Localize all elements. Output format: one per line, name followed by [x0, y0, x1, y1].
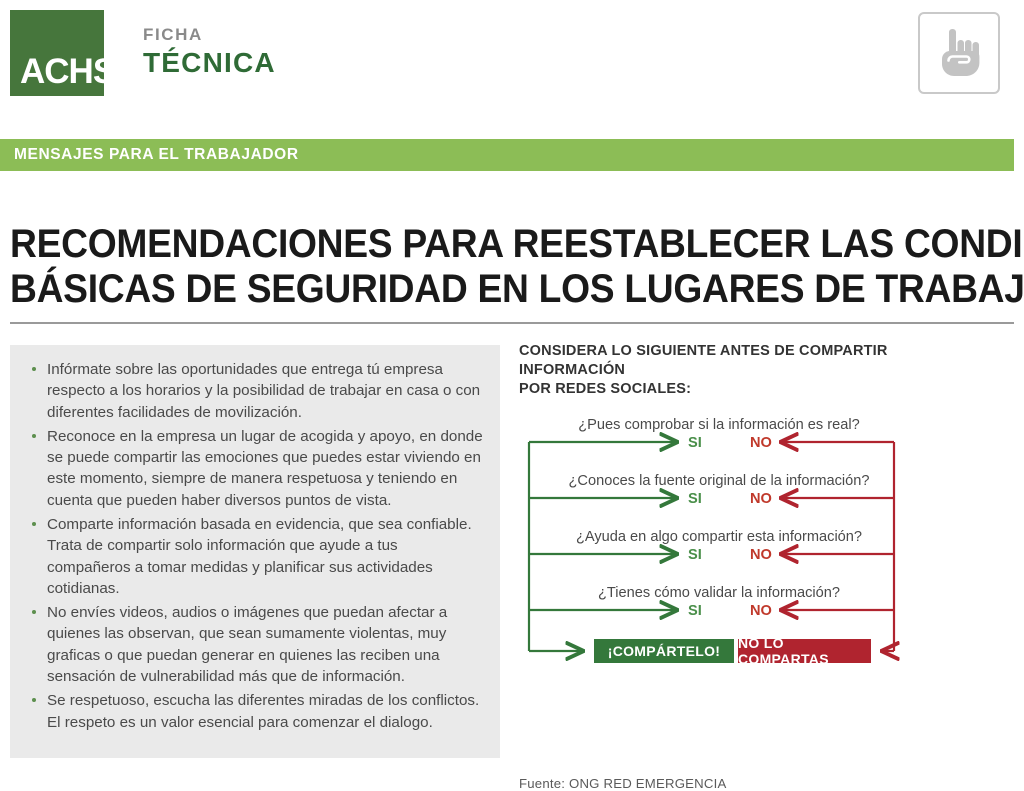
- share-it-button[interactable]: ¡COMPÁRTELO!: [594, 639, 734, 663]
- share-flowchart: ¿Pues comprobar si la información es rea…: [519, 418, 919, 678]
- flow-question-1: ¿Pues comprobar si la información es rea…: [519, 418, 919, 433]
- flow-question-4: ¿Tienes cómo validar la información?: [519, 586, 919, 601]
- list-item: No envíes videos, audios o imágenes que …: [30, 602, 485, 687]
- section-band-label: MENSAJES PARA EL TRABAJADOR: [14, 146, 299, 164]
- flow-question-3: ¿Ayuda en algo compartir esta informació…: [519, 530, 919, 545]
- flow-no-label-4: NO: [750, 604, 772, 619]
- share-decision-section: CONSIDERA LO SIGUIENTE ANTES DE COMPARTI…: [519, 342, 1014, 758]
- document-kind: FICHA TÉCNICA: [143, 24, 276, 79]
- flow-heading-line-2: POR REDES SOCIALES:: [519, 380, 919, 399]
- source-credit: Fuente: ONG RED EMERGENCIA: [519, 776, 726, 791]
- flow-question-2: ¿Conoces la fuente original de la inform…: [519, 474, 919, 489]
- flow-yes-label-3: SI: [688, 548, 702, 563]
- page-title-line-1: RECOMENDACIONES PARA REESTABLECER LAS CO…: [10, 222, 940, 267]
- recommendations-panel: Infórmate sobre las oportunidades que en…: [10, 345, 500, 758]
- section-band: MENSAJES PARA EL TRABAJADOR: [0, 139, 1014, 171]
- do-not-share-button[interactable]: NO LO COMPARTAS: [738, 639, 871, 663]
- flow-no-label-2: NO: [750, 492, 772, 507]
- flow-yes-label-1: SI: [688, 436, 702, 451]
- title-divider: [10, 322, 1014, 324]
- flow-yes-label-2: SI: [688, 492, 702, 507]
- flow-yes-label-4: SI: [688, 604, 702, 619]
- flow-no-label-1: NO: [750, 436, 772, 451]
- pointing-hand-icon: [918, 12, 1000, 94]
- recommendations-list: Infórmate sobre las oportunidades que en…: [30, 359, 485, 736]
- ficha-tecnica-page: ACHS FICHA TÉCNICA MENSAJES PARA EL TRAB…: [0, 0, 1024, 772]
- flow-heading-line-1: CONSIDERA LO SIGUIENTE ANTES DE COMPARTI…: [519, 342, 919, 380]
- page-header: ACHS FICHA TÉCNICA: [0, 0, 1024, 132]
- flow-no-label-3: NO: [750, 548, 772, 563]
- list-item: Se respetuoso, escucha las diferentes mi…: [30, 690, 485, 733]
- page-title-line-2: BÁSICAS DE SEGURIDAD EN LOS LUGARES DE T…: [10, 267, 940, 312]
- list-item: Comparte información basada en evidencia…: [30, 514, 485, 599]
- ficha-label: FICHA: [143, 24, 276, 45]
- flow-heading: CONSIDERA LO SIGUIENTE ANTES DE COMPARTI…: [519, 342, 919, 399]
- achs-logo: ACHS: [10, 10, 104, 96]
- list-item: Infórmate sobre las oportunidades que en…: [30, 359, 485, 423]
- tecnica-label: TÉCNICA: [143, 47, 276, 79]
- list-item: Reconoce en la empresa un lugar de acogi…: [30, 426, 485, 511]
- page-title: RECOMENDACIONES PARA REESTABLECER LAS CO…: [10, 222, 940, 312]
- achs-logo-text: ACHS: [20, 54, 115, 89]
